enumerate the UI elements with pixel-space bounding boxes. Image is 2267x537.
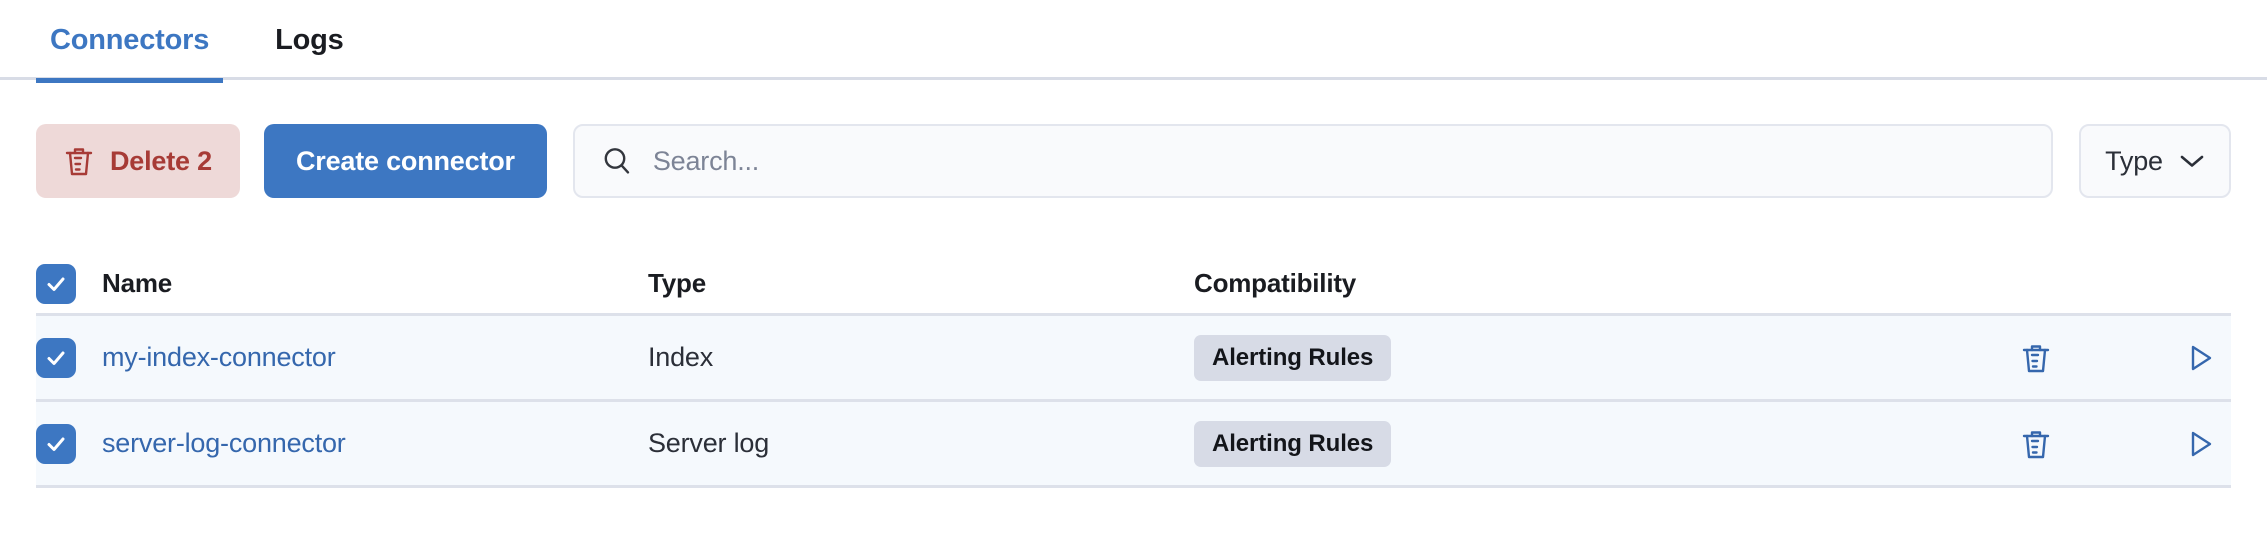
- create-connector-button[interactable]: Create connector: [264, 124, 547, 198]
- table-row: server-log-connector Server log Alerting…: [36, 402, 2231, 488]
- select-all-checkbox[interactable]: [36, 264, 76, 304]
- row-compatibility-cell: Alerting Rules: [1194, 335, 2021, 381]
- row-checkbox-cell: [36, 424, 102, 464]
- row-checkbox-cell: [36, 338, 102, 378]
- compatibility-badge: Alerting Rules: [1194, 421, 1391, 467]
- table-row: my-index-connector Index Alerting Rules: [36, 316, 2231, 402]
- trash-icon: [2021, 428, 2051, 460]
- row-run-button[interactable]: [2187, 342, 2215, 374]
- play-icon: [2187, 428, 2215, 460]
- tab-logs[interactable]: Logs: [261, 0, 357, 80]
- row-type-cell: Index: [648, 342, 1194, 373]
- table-header-row: Name Type Compatibility: [36, 254, 2231, 316]
- header-checkbox-cell: [36, 264, 102, 304]
- row-actions-cell: [2021, 342, 2231, 374]
- column-header-compatibility[interactable]: Compatibility: [1194, 268, 2021, 299]
- connectors-table: Name Type Compatibility my-index-connect…: [36, 254, 2231, 488]
- type-filter-label: Type: [2105, 146, 2163, 177]
- compatibility-badge: Alerting Rules: [1194, 335, 1391, 381]
- type-filter-button[interactable]: Type: [2079, 124, 2231, 198]
- tab-connectors[interactable]: Connectors: [36, 0, 223, 80]
- search-icon: [601, 145, 633, 177]
- connector-type-text: Server log: [648, 428, 769, 458]
- connector-name-link[interactable]: server-log-connector: [102, 428, 346, 458]
- row-name-cell: server-log-connector: [102, 428, 648, 459]
- search-field[interactable]: [573, 124, 2053, 198]
- toolbar: Delete 2 Create connector Type: [36, 124, 2231, 198]
- delete-button-label: Delete 2: [110, 146, 212, 177]
- row-select-checkbox[interactable]: [36, 424, 76, 464]
- tab-connectors-label: Connectors: [50, 24, 209, 57]
- tab-bar: Connectors Logs: [0, 0, 2267, 80]
- row-run-button[interactable]: [2187, 428, 2215, 460]
- row-select-checkbox[interactable]: [36, 338, 76, 378]
- chevron-down-icon: [2179, 153, 2205, 169]
- column-header-name[interactable]: Name: [102, 268, 648, 299]
- row-name-cell: my-index-connector: [102, 342, 648, 373]
- row-delete-button[interactable]: [2021, 428, 2051, 460]
- row-compatibility-cell: Alerting Rules: [1194, 421, 2021, 467]
- create-connector-label: Create connector: [296, 146, 515, 177]
- connector-type-text: Index: [648, 342, 713, 372]
- row-actions-cell: [2021, 428, 2231, 460]
- delete-button[interactable]: Delete 2: [36, 124, 240, 198]
- row-delete-button[interactable]: [2021, 342, 2051, 374]
- tab-logs-label: Logs: [275, 24, 343, 57]
- trash-icon: [2021, 342, 2051, 374]
- play-icon: [2187, 342, 2215, 374]
- connectors-page: Connectors Logs Delete 2 Create conne: [0, 0, 2267, 537]
- column-header-type[interactable]: Type: [648, 268, 1194, 299]
- search-input[interactable]: [653, 126, 2025, 196]
- connector-name-link[interactable]: my-index-connector: [102, 342, 336, 372]
- trash-icon: [64, 145, 94, 177]
- row-type-cell: Server log: [648, 428, 1194, 459]
